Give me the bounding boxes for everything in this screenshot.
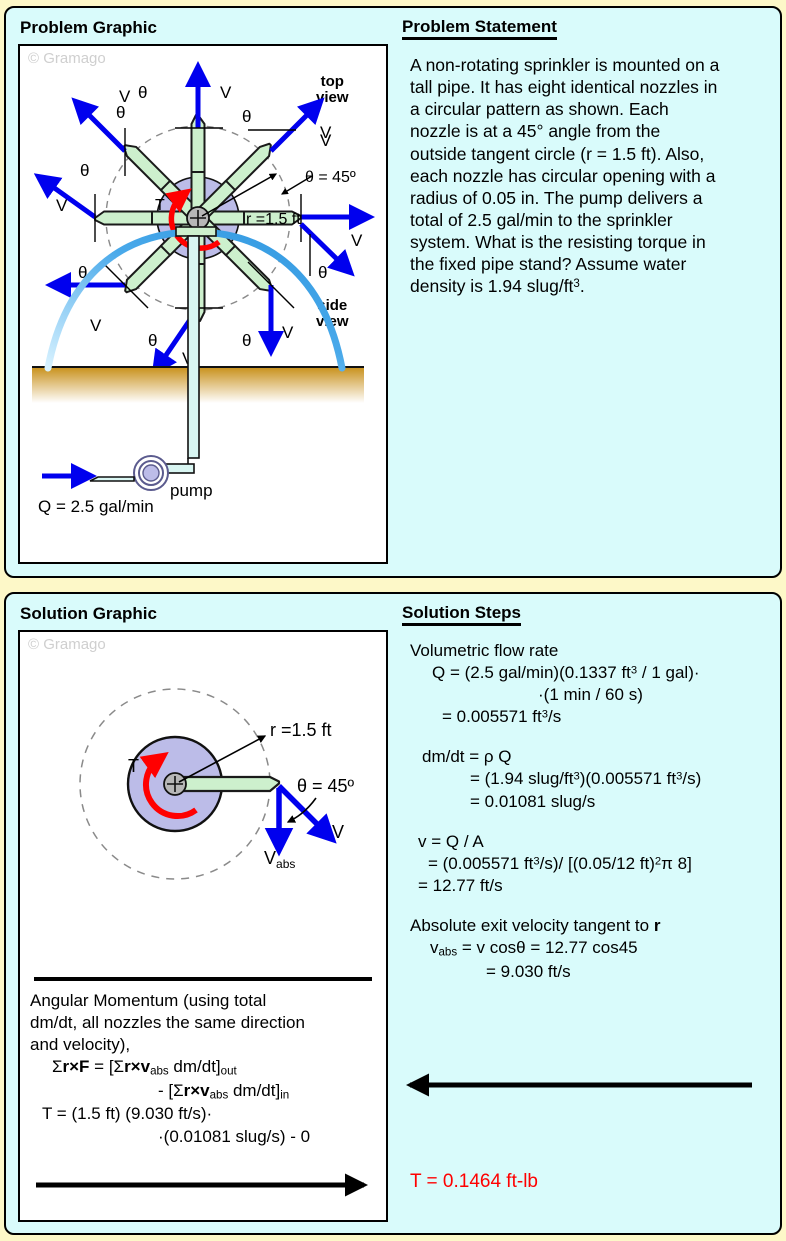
statement-line: system. What is the resisting torque in (410, 231, 772, 253)
step-line: vabs = v cosθ = 12.77 cos45 (410, 937, 782, 961)
step-line: ·(1 min / 60 s) (410, 684, 782, 706)
step-line: v = Q / A (410, 831, 782, 853)
problem-statement-text: A non-rotating sprinkler is mounted on a… (410, 54, 772, 297)
svg-text:θ: θ (242, 331, 251, 350)
spacer (410, 728, 782, 746)
page-root: Problem Graphic Problem Statement © Gram… (0, 0, 786, 1241)
step-line: = (0.005571 ft3/s)/ [(0.05/12 ft)2π 8] (410, 853, 782, 875)
momentum-line: Angular Momentum (using total (30, 990, 386, 1012)
statement-line: tall pipe. It has eight identical nozzle… (410, 76, 772, 98)
spacer (410, 897, 782, 915)
statement-line: outside tangent circle (r = 1.5 ft). Als… (410, 143, 772, 165)
section-divider (34, 977, 372, 981)
step-line: = 9.030 ft/s (410, 961, 782, 983)
svg-text:pump: pump (170, 481, 213, 500)
statement-line: nozzle is at a 45° angle from the (410, 120, 772, 142)
svg-text:V: V (282, 323, 294, 342)
svg-text:T: T (155, 197, 165, 214)
problem-graphic-header: Problem Graphic (20, 18, 157, 38)
svg-text:θ = 45º: θ = 45º (297, 776, 355, 796)
momentum-equation: Σr×F = [Σr×vabs dm/dt]out (30, 1056, 386, 1080)
flow-arrow-left (404, 1072, 764, 1098)
solution-steps-header: Solution Steps (402, 603, 521, 626)
svg-text:V: V (332, 822, 344, 842)
svg-text:Q = 2.5 gal/min: Q = 2.5 gal/min (38, 497, 154, 516)
problem-graphic-figure: © Gramago topview sideview (18, 44, 388, 564)
problem-diagram-svg: T r =1.5 ft θ = 45º V (20, 46, 388, 564)
final-answer: T = 0.1464 ft-lb (410, 1170, 538, 1194)
step-line: Q = (2.5 gal/min)(0.1337 ft3 / 1 gal)· (410, 662, 782, 684)
solution-panel: Solution Graphic Solution Steps © Gramag… (4, 592, 782, 1235)
statement-line: each nozzle has circular opening with a (410, 165, 772, 187)
statement-line: density is 1.94 slug/ft3. (410, 275, 772, 297)
svg-text:θ: θ (318, 263, 327, 282)
step-line: = 0.01081 slug/s (410, 791, 782, 813)
flow-arrow-right (34, 1172, 384, 1198)
statement-line: total of 2.5 gal/min to the sprinkler (410, 209, 772, 231)
statement-line: a circular pattern as shown. Each (410, 98, 772, 120)
svg-text:θ: θ (148, 331, 157, 350)
svg-text:θ: θ (138, 83, 147, 102)
svg-text:V: V (90, 316, 102, 335)
solution-graphic-header: Solution Graphic (20, 604, 157, 624)
step-line: = 12.77 ft/s (410, 875, 782, 897)
solution-steps-text: Volumetric flow rate Q = (2.5 gal/min)(0… (410, 640, 782, 983)
statement-line: the fixed pipe stand? Assume water (410, 253, 772, 275)
top-view-group: T r =1.5 ft θ = 45º V (46, 76, 363, 368)
svg-text:T: T (128, 756, 139, 776)
problem-statement-header: Problem Statement (402, 17, 557, 40)
svg-text:θ: θ (80, 161, 89, 180)
svg-text:Vabs: Vabs (264, 848, 295, 871)
momentum-equation: ·(0.01081 slug/s) - 0 (30, 1126, 386, 1148)
problem-panel: Problem Graphic Problem Statement © Gram… (4, 6, 782, 578)
svg-text:r =1.5 ft: r =1.5 ft (246, 211, 301, 228)
momentum-equation: T = (1.5 ft) (9.030 ft/s)· (30, 1103, 386, 1125)
step-heading: Absolute exit velocity tangent to r (410, 915, 782, 937)
step-line: = (1.94 slug/ft3)(0.005571 ft3/s) (410, 768, 782, 790)
step-line: = 0.005571 ft3/s (410, 706, 782, 728)
step-heading: Volumetric flow rate (410, 640, 782, 662)
solution-graphic-figure: © Gramago (18, 630, 388, 1222)
angular-momentum-text: Angular Momentum (using total dm/dt, all… (30, 990, 386, 1148)
statement-line: radius of 0.05 in. The pump delivers a (410, 187, 772, 209)
svg-text:θ: θ (242, 107, 251, 126)
momentum-line: and velocity), (30, 1034, 386, 1056)
step-line: dm/dt = ρ Q (410, 746, 782, 768)
svg-text:V: V (220, 83, 232, 102)
statement-line: A non-rotating sprinkler is mounted on a (410, 54, 772, 76)
svg-text:V: V (56, 196, 68, 215)
svg-text:θ = 45º: θ = 45º (305, 169, 356, 186)
momentum-equation: - [Σr×vabs dm/dt]in (30, 1080, 386, 1104)
svg-text:r =1.5 ft: r =1.5 ft (270, 720, 332, 740)
svg-text:V: V (351, 231, 363, 250)
svg-text:θ: θ (116, 103, 125, 122)
svg-text:V: V (320, 123, 332, 142)
momentum-line: dm/dt, all nozzles the same direction (30, 1012, 386, 1034)
spacer (410, 813, 782, 831)
